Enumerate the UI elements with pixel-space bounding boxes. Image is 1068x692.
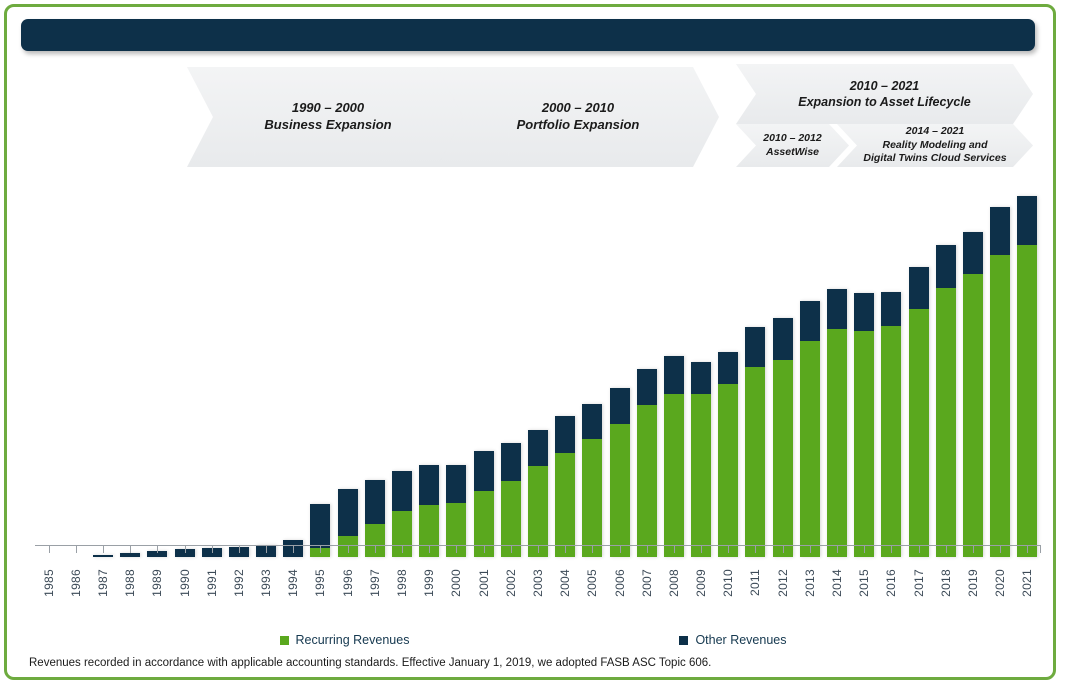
bar-stack [93, 555, 113, 557]
x-axis-label-2007: 2007 [640, 569, 654, 597]
bar-stack [501, 443, 521, 557]
x-axis-label-cell: 1992 [225, 569, 252, 621]
x-axis-label-cell: 2007 [633, 569, 660, 621]
x-axis-label-2008: 2008 [667, 569, 681, 597]
x-axis-tick [878, 545, 905, 553]
x-axis-label-cell: 1990 [171, 569, 198, 621]
x-axis-tick [823, 545, 850, 553]
bar-stack [800, 301, 820, 557]
bar-stack [990, 207, 1010, 557]
bar-column-1988[interactable] [117, 177, 144, 557]
bar-column-2009[interactable] [688, 177, 715, 557]
x-axis-label-2003: 2003 [531, 569, 545, 597]
x-axis-label-cell: 1993 [253, 569, 280, 621]
x-axis-label-1998: 1998 [395, 569, 409, 597]
x-axis-tick [171, 545, 198, 553]
x-axis-label-cell: 1999 [416, 569, 443, 621]
bar-stack [827, 289, 847, 557]
x-axis-label-1995: 1995 [313, 569, 327, 597]
bar-column-2008[interactable] [660, 177, 687, 557]
header-bar [21, 19, 1035, 51]
bar-segment-recurring-revenues [963, 274, 983, 557]
bar-segment-recurring-revenues [582, 439, 602, 557]
x-axis-label-cell: 2009 [688, 569, 715, 621]
x-axis-tick [253, 545, 280, 553]
x-axis-tick [633, 545, 660, 553]
phase-period: 2010 – 2012 [763, 132, 821, 146]
bar-column-2000[interactable] [443, 177, 470, 557]
x-axis-label-2021: 2021 [1020, 569, 1034, 597]
phase-label: Expansion to Asset Lifecycle [798, 94, 971, 110]
legend-label: Other Revenues [695, 633, 786, 647]
bar-segment-other-revenues [310, 504, 330, 549]
bar-column-2003[interactable] [524, 177, 551, 557]
x-axis-tick [497, 545, 524, 553]
x-axis-label-2001: 2001 [477, 569, 491, 597]
bar-stack [528, 430, 548, 557]
x-axis-tick [470, 545, 497, 553]
bar-column-2017[interactable] [905, 177, 932, 557]
bar-segment-recurring-revenues [881, 326, 901, 557]
bar-column-1989[interactable] [144, 177, 171, 557]
x-axis-label-cell: 2015 [851, 569, 878, 621]
x-axis-label-cell: 2013 [796, 569, 823, 621]
bar-stack [881, 292, 901, 557]
x-axis-label-2010: 2010 [721, 569, 735, 597]
plot-area [35, 177, 1041, 557]
timeline-phase-assetwise[interactable]: 2010 – 2012 AssetWise [736, 124, 849, 167]
x-axis-tick [307, 545, 334, 553]
bar-column-2018[interactable] [932, 177, 959, 557]
bar-segment-recurring-revenues [528, 466, 548, 557]
x-axis-label-cell: 2014 [823, 569, 850, 621]
x-axis-labels: 1985198619871988198919901991199219931994… [35, 569, 1041, 621]
legend-swatch-icon [679, 636, 688, 645]
bar-column-2005[interactable] [579, 177, 606, 557]
bar-segment-recurring-revenues [936, 288, 956, 557]
bar-column-1990[interactable] [171, 177, 198, 557]
x-axis-label-cell: 1996 [334, 569, 361, 621]
bar-column-1994[interactable] [280, 177, 307, 557]
bar-segment-other-revenues [120, 553, 140, 557]
bar-segment-other-revenues [637, 369, 657, 405]
x-axis-label-2000: 2000 [449, 569, 463, 597]
timeline-chevron-band: 1990 – 2000 Business Expansion 2000 – 20… [187, 62, 1042, 167]
x-axis-label-1999: 1999 [422, 569, 436, 597]
phase-label: Portfolio Expansion [517, 117, 640, 134]
x-axis-tick [62, 545, 89, 553]
bar-stack [637, 369, 657, 557]
phase-label-line2: Digital Twins Cloud Services [863, 152, 1006, 166]
timeline-phase-asset-lifecycle[interactable]: 2010 – 2021 Expansion to Asset Lifecycle [736, 64, 1033, 124]
phase-period: 2000 – 2010 [517, 100, 640, 117]
x-axis-label-1993: 1993 [259, 569, 273, 597]
x-axis-label-cell: 2012 [769, 569, 796, 621]
x-axis-label-cell: 2006 [606, 569, 633, 621]
bar-segment-other-revenues [93, 555, 113, 557]
x-axis-label-2012: 2012 [776, 569, 790, 597]
bar-column-1996[interactable] [334, 177, 361, 557]
x-axis-label-2014: 2014 [830, 569, 844, 597]
x-axis-label-cell: 2020 [987, 569, 1014, 621]
bar-segment-recurring-revenues [773, 360, 793, 557]
bar-column-1986[interactable] [62, 177, 89, 557]
bar-stack [446, 465, 466, 557]
chart-legend: Recurring Revenues Other Revenues [7, 629, 1059, 651]
x-axis-label-2005: 2005 [585, 569, 599, 597]
x-axis-label-2018: 2018 [939, 569, 953, 597]
x-axis-label-cell: 2016 [878, 569, 905, 621]
bar-segment-other-revenues [718, 352, 738, 384]
bar-segment-other-revenues [936, 245, 956, 288]
bar-column-2012[interactable] [769, 177, 796, 557]
bar-stack [854, 293, 874, 557]
bar-segment-recurring-revenues [1017, 245, 1037, 557]
timeline-phase-portfolio-expansion[interactable]: 2000 – 2010 Portfolio Expansion [437, 67, 719, 167]
bar-column-1993[interactable] [253, 177, 280, 557]
x-axis-label-cell: 1995 [307, 569, 334, 621]
x-axis-label-cell: 2001 [470, 569, 497, 621]
bar-column-2010[interactable] [715, 177, 742, 557]
bar-stack [745, 327, 765, 557]
bar-segment-other-revenues [854, 293, 874, 331]
x-axis-tick [334, 545, 361, 553]
x-axis-label-cell: 1998 [388, 569, 415, 621]
x-axis-tick [715, 545, 742, 553]
x-axis-tick [89, 545, 116, 553]
bar-segment-other-revenues [365, 480, 385, 524]
x-axis-label-1997: 1997 [368, 569, 382, 597]
x-axis-tick [769, 545, 796, 553]
x-axis-label-2016: 2016 [884, 569, 898, 597]
x-axis-label-cell: 1988 [117, 569, 144, 621]
bar-segment-other-revenues [528, 430, 548, 466]
phase-label: AssetWise [763, 146, 821, 160]
x-axis-label-1986: 1986 [69, 569, 83, 597]
timeline-phase-business-expansion[interactable]: 1990 – 2000 Business Expansion [187, 67, 469, 167]
timeline-phase-reality-modeling[interactable]: 2014 – 2021 Reality Modeling and Digital… [837, 124, 1033, 167]
x-axis-tick [932, 545, 959, 553]
legend-item-recurring[interactable]: Recurring Revenues [280, 633, 410, 647]
x-axis-label-cell: 2004 [552, 569, 579, 621]
bar-segment-other-revenues [446, 465, 466, 503]
x-axis-tick [987, 545, 1014, 553]
phase-period: 2014 – 2021 [863, 125, 1006, 139]
x-axis-label-cell: 1987 [89, 569, 116, 621]
x-axis-tick [198, 545, 225, 553]
bar-column-2011[interactable] [742, 177, 769, 557]
bar-stack [419, 465, 439, 557]
x-axis-label-2006: 2006 [613, 569, 627, 597]
legend-swatch-icon [280, 636, 289, 645]
x-axis-tick [905, 545, 932, 553]
bar-segment-other-revenues [800, 301, 820, 341]
bar-stack [474, 451, 494, 557]
bar-segment-other-revenues [773, 318, 793, 361]
legend-item-other[interactable]: Other Revenues [679, 633, 786, 647]
bar-segment-recurring-revenues [827, 329, 847, 557]
bar-stack [963, 232, 983, 557]
bar-column-2021[interactable] [1014, 177, 1041, 557]
bar-segment-other-revenues [691, 362, 711, 393]
x-axis-label-cell: 2021 [1014, 569, 1041, 621]
bar-stack [936, 245, 956, 557]
bar-stack [718, 352, 738, 557]
bar-segment-recurring-revenues [664, 394, 684, 557]
bar-segment-other-revenues [909, 267, 929, 309]
x-axis-label-cell: 1989 [144, 569, 171, 621]
bar-stack [773, 318, 793, 557]
x-axis-label-2017: 2017 [912, 569, 926, 597]
x-axis-label-1996: 1996 [341, 569, 355, 597]
revenue-stacked-bar-chart [27, 177, 1041, 569]
bar-column-1995[interactable] [307, 177, 334, 557]
bar-segment-recurring-revenues [718, 384, 738, 557]
x-axis-label-cell: 2010 [715, 569, 742, 621]
x-axis-tick [552, 545, 579, 553]
bar-stack [555, 416, 575, 557]
x-axis-tick [660, 545, 687, 553]
phase-period: 2010 – 2021 [798, 78, 971, 94]
bar-column-2020[interactable] [987, 177, 1014, 557]
bar-stack [120, 553, 140, 557]
x-axis-tick [688, 545, 715, 553]
bar-column-2014[interactable] [823, 177, 850, 557]
x-axis-label-1987: 1987 [96, 569, 110, 597]
x-axis-label-2013: 2013 [803, 569, 817, 597]
x-axis-label-2019: 2019 [966, 569, 980, 597]
bar-column-2016[interactable] [878, 177, 905, 557]
bar-segment-other-revenues [338, 489, 358, 537]
bar-segment-other-revenues [419, 465, 439, 505]
x-axis-label-cell: 2000 [443, 569, 470, 621]
bar-stack [1017, 196, 1037, 557]
bar-segment-recurring-revenues [610, 424, 630, 557]
x-axis-label-1988: 1988 [123, 569, 137, 597]
x-axis-ticks [35, 545, 1041, 553]
x-axis-tick [388, 545, 415, 553]
chart-footnote: Revenues recorded in accordance with app… [29, 657, 1029, 669]
bar-segment-other-revenues [474, 451, 494, 491]
bar-column-2006[interactable] [606, 177, 633, 557]
bar-column-2015[interactable] [851, 177, 878, 557]
bar-column-1985[interactable] [35, 177, 62, 557]
x-axis-label-cell: 1985 [35, 569, 62, 621]
x-axis-label-1991: 1991 [205, 569, 219, 597]
bar-stack [664, 356, 684, 557]
x-axis-label-1994: 1994 [286, 569, 300, 597]
legend-label: Recurring Revenues [296, 633, 410, 647]
bar-stack [691, 362, 711, 557]
bar-segment-recurring-revenues [800, 341, 820, 557]
bar-segment-recurring-revenues [909, 309, 929, 557]
bar-segment-other-revenues [392, 471, 412, 512]
x-axis-tick [225, 545, 252, 553]
x-axis-label-cell: 1991 [198, 569, 225, 621]
x-axis-label-1989: 1989 [150, 569, 164, 597]
bar-segment-recurring-revenues [555, 453, 575, 558]
x-axis-tick [35, 545, 62, 553]
bar-series-container [35, 177, 1041, 557]
x-axis-label-cell: 2017 [905, 569, 932, 621]
bar-segment-other-revenues [610, 388, 630, 424]
x-axis-tick [1014, 545, 1041, 553]
x-axis-label-cell: 2011 [742, 569, 769, 621]
bar-column-1991[interactable] [198, 177, 225, 557]
x-axis-label-1985: 1985 [42, 569, 56, 597]
x-axis-label-cell: 2018 [932, 569, 959, 621]
x-axis-tick [742, 545, 769, 553]
bar-column-2001[interactable] [470, 177, 497, 557]
x-axis-label-1990: 1990 [178, 569, 192, 597]
bar-segment-other-revenues [555, 416, 575, 452]
x-axis-tick [579, 545, 606, 553]
bar-segment-recurring-revenues [691, 394, 711, 557]
bar-column-2002[interactable] [497, 177, 524, 557]
bar-stack [610, 388, 630, 557]
bar-column-1999[interactable] [416, 177, 443, 557]
bar-segment-other-revenues [582, 404, 602, 439]
x-axis-label-cell: 2002 [497, 569, 524, 621]
phase-period: 1990 – 2000 [264, 100, 391, 117]
x-axis-label-2009: 2009 [694, 569, 708, 597]
x-axis-tick [144, 545, 171, 553]
bar-column-1997[interactable] [361, 177, 388, 557]
x-axis-label-1992: 1992 [232, 569, 246, 597]
x-axis-label-cell: 2008 [660, 569, 687, 621]
bar-segment-other-revenues [664, 356, 684, 394]
bar-segment-recurring-revenues [854, 331, 874, 557]
bar-stack [909, 267, 929, 557]
x-axis-label-cell: 2005 [579, 569, 606, 621]
x-axis-label-2015: 2015 [857, 569, 871, 597]
x-axis-label-2011: 2011 [748, 569, 762, 596]
x-axis-tick [416, 545, 443, 553]
x-axis-tick [959, 545, 986, 553]
bar-segment-recurring-revenues [745, 367, 765, 557]
x-axis-label-cell: 1986 [62, 569, 89, 621]
x-axis-tick [524, 545, 551, 553]
x-axis-tick [280, 545, 307, 553]
bar-segment-other-revenues [881, 292, 901, 326]
x-axis-label-2002: 2002 [504, 569, 518, 597]
x-axis-label-cell: 2019 [959, 569, 986, 621]
bar-column-1998[interactable] [388, 177, 415, 557]
bar-segment-recurring-revenues [637, 405, 657, 557]
x-axis-label-cell: 1994 [280, 569, 307, 621]
bar-segment-other-revenues [501, 443, 521, 481]
bar-column-1987[interactable] [89, 177, 116, 557]
bar-segment-other-revenues [745, 327, 765, 367]
x-axis-tick [851, 545, 878, 553]
phase-label-line1: Reality Modeling and [863, 139, 1006, 153]
bar-segment-other-revenues [1017, 196, 1037, 245]
x-axis-label-2020: 2020 [993, 569, 1007, 597]
bar-segment-other-revenues [990, 207, 1010, 255]
bar-column-2004[interactable] [552, 177, 579, 557]
phase-label: Business Expansion [264, 117, 391, 134]
bar-column-2013[interactable] [796, 177, 823, 557]
bar-segment-other-revenues [963, 232, 983, 274]
x-axis-label-2004: 2004 [558, 569, 572, 597]
bar-column-2007[interactable] [633, 177, 660, 557]
bar-segment-recurring-revenues [990, 255, 1010, 557]
bar-segment-other-revenues [827, 289, 847, 329]
x-axis-tick [443, 545, 470, 553]
x-axis-tick [117, 545, 144, 553]
x-axis-tick [796, 545, 823, 553]
x-axis-tick [361, 545, 388, 553]
x-axis-label-cell: 2003 [524, 569, 551, 621]
x-axis-label-cell: 1997 [361, 569, 388, 621]
chart-frame: 1990 – 2000 Business Expansion 2000 – 20… [4, 4, 1056, 680]
x-axis-tick [606, 545, 633, 553]
bar-column-2019[interactable] [959, 177, 986, 557]
bar-stack [582, 404, 602, 557]
bar-column-1992[interactable] [225, 177, 252, 557]
